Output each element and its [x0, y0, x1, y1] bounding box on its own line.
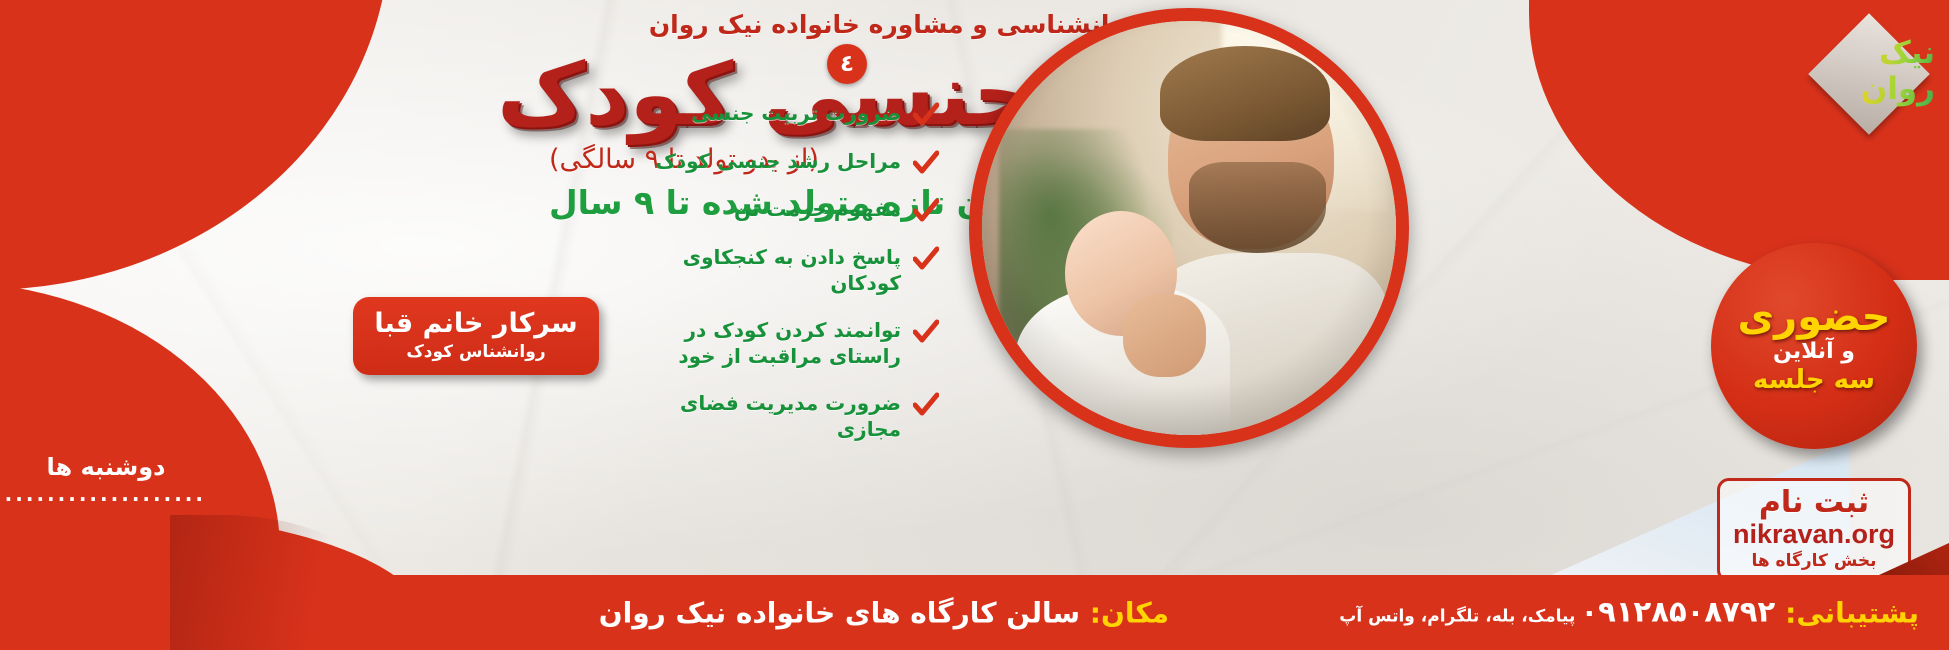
photo-vignette	[982, 21, 1396, 435]
speaker-role: روانشناس کودک	[373, 342, 579, 362]
check-mark-icon	[913, 246, 939, 272]
support-details: ۰۹۱۲۸۵۰۸۷۹۲ پیامک، بله، تلگرام، واتس آپ	[1339, 596, 1775, 626]
list-item: مفهوم حرمت تن	[609, 196, 939, 224]
photo-circle-frame	[969, 8, 1409, 448]
check-mark-icon	[913, 392, 939, 418]
brand-logo: نیک روان	[1803, 8, 1935, 140]
list-item-label: ضرورت تربیت جنسی	[691, 100, 901, 126]
speaker-badge: سرکار خانم قبا روانشناس کودک	[353, 297, 599, 375]
father-holding-baby-photo	[982, 21, 1396, 435]
footer-content: مکان: سالن کارگاه های خانواده نیک روان پ…	[0, 575, 1949, 650]
logo-wordmark: نیک روان	[1803, 8, 1935, 140]
registration-url-link[interactable]: nikravan.org	[1728, 519, 1900, 550]
registration-title: ثبت نام	[1728, 486, 1900, 519]
list-item-label: مفهوم حرمت تن	[734, 196, 901, 222]
red-shape-top-left	[0, 0, 390, 290]
topics-checklist: ضرورت تربیت جنسی مراحل رشد جنسی کودک مفه…	[609, 100, 939, 462]
list-item-label: پاسخ دادن به کنجکاوی کودکان	[609, 244, 901, 297]
schedule-day: دوشنبه ها	[6, 452, 206, 482]
venue-label: مکان:	[1090, 596, 1169, 629]
support-phone-number[interactable]: ۰۹۱۲۸۵۰۸۷۹۲	[1580, 594, 1775, 628]
session-number-badge: ٤	[827, 44, 867, 84]
list-item-label: توانمند کردن کودک در راستای مراقبت از خو…	[609, 317, 901, 370]
check-mark-icon	[913, 319, 939, 345]
venue-value: سالن کارگاه های خانواده نیک روان	[599, 596, 1080, 629]
list-item: ضرورت تربیت جنسی	[609, 100, 939, 128]
venue-info: مکان: سالن کارگاه های خانواده نیک روان	[599, 596, 1169, 629]
support-info: پشتیبانی: ۰۹۱۲۸۵۰۸۷۹۲ پیامک، بله، تلگرام…	[1339, 596, 1919, 629]
mode-in-person-label: حضوری	[1738, 296, 1891, 338]
mode-online-label: و آنلاین	[1773, 340, 1855, 364]
list-item-label: ضرورت مدیریت فضای مجازی	[609, 390, 901, 443]
list-item-label: مراحل رشد جنسی کودک	[655, 148, 901, 174]
support-channels: پیامک، بله، تلگرام، واتس آپ	[1339, 606, 1575, 626]
promotional-banner: مرکز روانشناسی و مشاوره خانواده نیک روان…	[0, 0, 1949, 650]
list-item: توانمند کردن کودک در راستای مراقبت از خو…	[609, 317, 939, 370]
list-item: ضرورت مدیریت فضای مجازی	[609, 390, 939, 443]
check-mark-icon	[913, 102, 939, 128]
list-item: مراحل رشد جنسی کودک	[609, 148, 939, 176]
attendance-mode-badge: حضوری و آنلاین سه جلسه	[1711, 243, 1917, 449]
registration-note: بخش کارگاه ها	[1728, 551, 1900, 571]
check-mark-icon	[913, 198, 939, 224]
speaker-name: سرکار خانم قبا	[373, 308, 579, 339]
check-mark-icon	[913, 150, 939, 176]
session-count-label: سه جلسه	[1753, 366, 1875, 396]
support-label: پشتیبانی:	[1785, 596, 1919, 629]
list-item: پاسخ دادن به کنجکاوی کودکان	[609, 244, 939, 297]
schedule-divider-dots: ································	[6, 489, 206, 509]
registration-box[interactable]: ثبت نام nikravan.org بخش کارگاه ها	[1717, 478, 1911, 582]
